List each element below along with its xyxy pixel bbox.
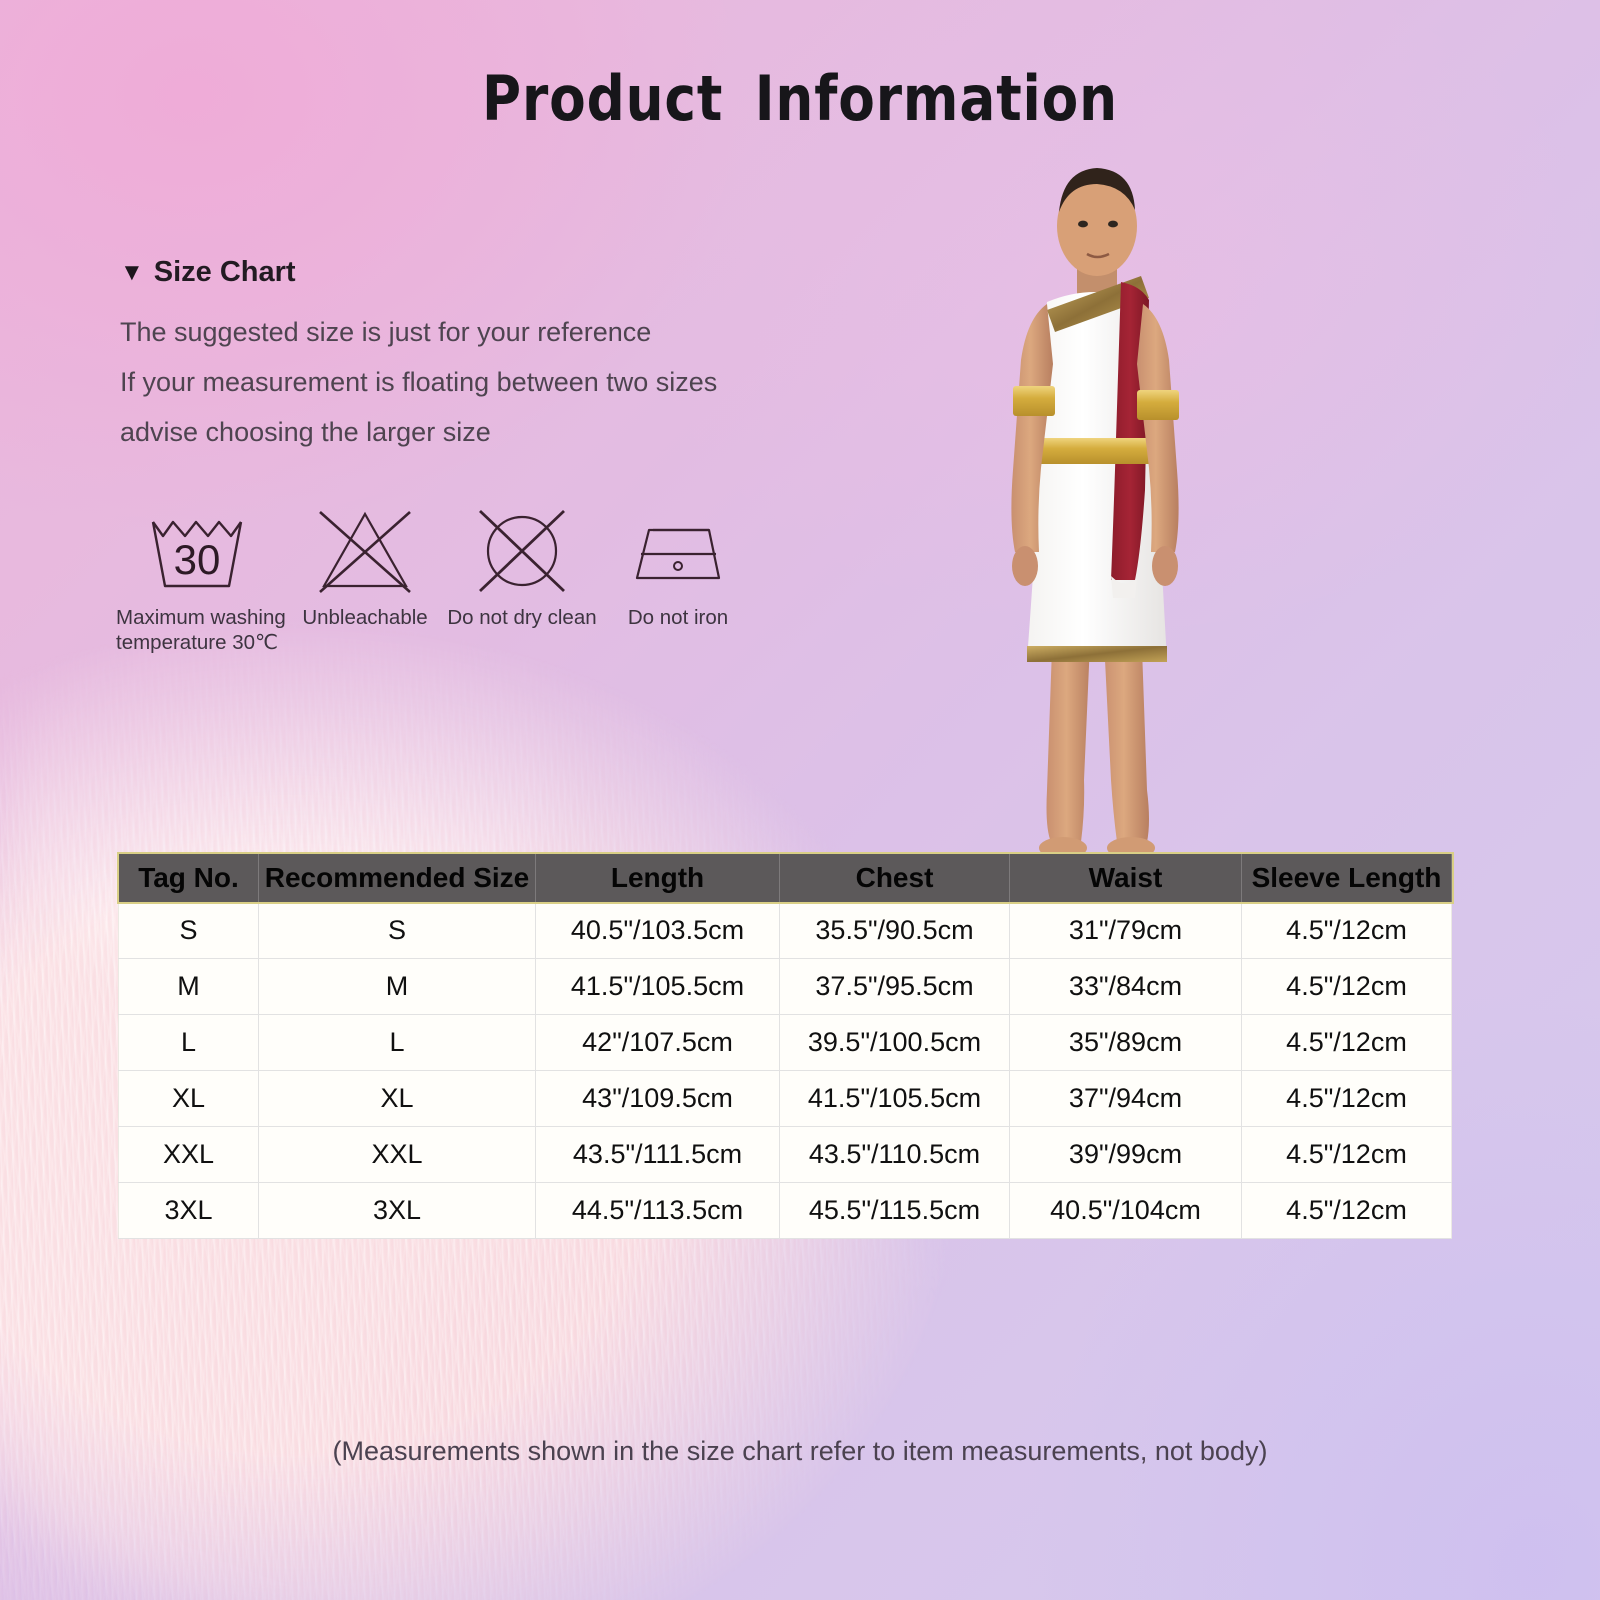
cell-tag-no: L xyxy=(119,1014,259,1070)
column-header-chest: Chest xyxy=(780,854,1010,902)
table-row: L L 42"/107.5cm 39.5"/100.5cm 35"/89cm 4… xyxy=(119,1014,1452,1070)
cell-rec-size: 3XL xyxy=(259,1182,536,1238)
care-symbol-iron: Do not iron xyxy=(598,505,758,630)
column-header-waist: Waist xyxy=(1010,854,1242,902)
cell-rec-size: L xyxy=(259,1014,536,1070)
cell-waist: 37"/94cm xyxy=(1010,1070,1242,1126)
care-symbol-bleach: Unbleachable xyxy=(284,505,446,630)
cell-waist: 39"/99cm xyxy=(1010,1126,1242,1182)
cell-length: 43"/109.5cm xyxy=(536,1070,780,1126)
cell-rec-size: XL xyxy=(259,1070,536,1126)
care-symbols-row: 30 Maximum washing temperature 30℃ Unble… xyxy=(118,505,758,655)
cell-sleeve: 4.5"/12cm xyxy=(1242,1070,1452,1126)
cell-waist: 33"/84cm xyxy=(1010,958,1242,1014)
size-table-container: Tag No. Recommended Size Length Chest Wa… xyxy=(118,854,1451,1239)
cell-chest: 35.5"/90.5cm xyxy=(780,902,1010,958)
size-chart-heading: ▼ Size Chart xyxy=(120,256,880,289)
cell-chest: 39.5"/100.5cm xyxy=(780,1014,1010,1070)
column-header-recommended-size: Recommended Size xyxy=(259,854,536,902)
size-table-body: S S 40.5"/103.5cm 35.5"/90.5cm 31"/79cm … xyxy=(119,902,1452,1238)
size-table-header-row: Tag No. Recommended Size Length Chest Wa… xyxy=(119,854,1452,902)
cell-tag-no: XXL xyxy=(119,1126,259,1182)
cell-sleeve: 4.5"/12cm xyxy=(1242,902,1452,958)
cell-length: 43.5"/111.5cm xyxy=(536,1126,780,1182)
table-row: XXL XXL 43.5"/111.5cm 43.5"/110.5cm 39"/… xyxy=(119,1126,1452,1182)
cell-length: 40.5"/103.5cm xyxy=(536,902,780,958)
cell-tag-no: S xyxy=(119,902,259,958)
size-chart-heading-label: Size Chart xyxy=(154,256,296,289)
cell-chest: 37.5"/95.5cm xyxy=(780,958,1010,1014)
column-header-tag-no: Tag No. xyxy=(119,854,259,902)
table-row: 3XL 3XL 44.5"/113.5cm 45.5"/115.5cm 40.5… xyxy=(119,1182,1452,1238)
size-chart-section: ▼ Size Chart The suggested size is just … xyxy=(120,256,880,457)
table-row: XL XL 43"/109.5cm 41.5"/105.5cm 37"/94cm… xyxy=(119,1070,1452,1126)
cell-rec-size: M xyxy=(259,958,536,1014)
care-symbol-label: Unbleachable xyxy=(302,605,427,630)
wash-temperature-value: 30 xyxy=(174,536,221,583)
cell-sleeve: 4.5"/12cm xyxy=(1242,958,1452,1014)
cell-length: 44.5"/113.5cm xyxy=(536,1182,780,1238)
cell-waist: 31"/79cm xyxy=(1010,902,1242,958)
page-title: Product Information xyxy=(112,62,1488,135)
cell-tag-no: XL xyxy=(119,1070,259,1126)
background-gradient-overlay xyxy=(0,0,1600,1600)
cell-chest: 45.5"/115.5cm xyxy=(780,1182,1010,1238)
care-symbol-label: Maximum washing temperature 30℃ xyxy=(116,605,286,655)
cell-tag-no: 3XL xyxy=(119,1182,259,1238)
cell-waist: 35"/89cm xyxy=(1010,1014,1242,1070)
cell-chest: 43.5"/110.5cm xyxy=(780,1126,1010,1182)
care-symbol-wash: 30 Maximum washing temperature 30℃ xyxy=(118,505,284,655)
cell-length: 42"/107.5cm xyxy=(536,1014,780,1070)
cell-sleeve: 4.5"/12cm xyxy=(1242,1014,1452,1070)
size-note-line: The suggested size is just for your refe… xyxy=(120,307,880,357)
cell-waist: 40.5"/104cm xyxy=(1010,1182,1242,1238)
size-table-head: Tag No. Recommended Size Length Chest Wa… xyxy=(119,854,1452,902)
care-symbol-label: Do not dry clean xyxy=(447,605,596,630)
product-model-photo xyxy=(935,150,1255,870)
size-table: Tag No. Recommended Size Length Chest Wa… xyxy=(118,854,1452,1239)
no-iron-icon xyxy=(623,508,733,594)
triangle-down-icon: ▼ xyxy=(120,261,144,285)
care-symbol-label: Do not iron xyxy=(628,605,728,630)
cell-sleeve: 4.5"/12cm xyxy=(1242,1126,1452,1182)
no-dry-clean-circle-icon xyxy=(470,505,574,597)
cell-chest: 41.5"/105.5cm xyxy=(780,1070,1010,1126)
cell-length: 41.5"/105.5cm xyxy=(536,958,780,1014)
cell-sleeve: 4.5"/12cm xyxy=(1242,1182,1452,1238)
table-row: M M 41.5"/105.5cm 37.5"/95.5cm 33"/84cm … xyxy=(119,958,1452,1014)
column-header-sleeve-length: Sleeve Length xyxy=(1242,854,1452,902)
wash-tub-30-icon: 30 xyxy=(143,508,259,594)
table-row: S S 40.5"/103.5cm 35.5"/90.5cm 31"/79cm … xyxy=(119,902,1452,958)
cell-tag-no: M xyxy=(119,958,259,1014)
care-symbol-dryclean: Do not dry clean xyxy=(446,505,598,630)
size-note-line: advise choosing the larger size xyxy=(120,407,880,457)
size-note-line: If your measurement is floating between … xyxy=(120,357,880,407)
measurements-disclaimer: (Measurements shown in the size chart re… xyxy=(0,1436,1600,1467)
cell-rec-size: XXL xyxy=(259,1126,536,1182)
no-bleach-triangle-icon xyxy=(310,506,420,596)
toga-costume-illustration xyxy=(935,150,1255,870)
column-header-length: Length xyxy=(536,854,780,902)
cell-rec-size: S xyxy=(259,902,536,958)
